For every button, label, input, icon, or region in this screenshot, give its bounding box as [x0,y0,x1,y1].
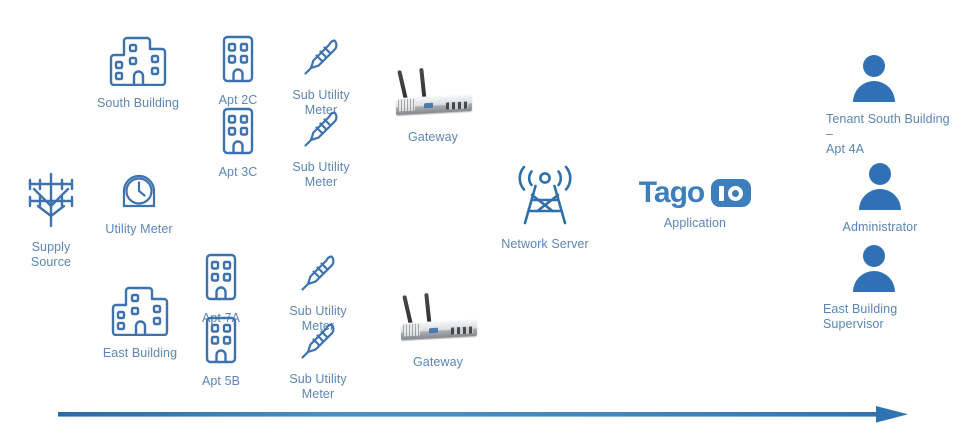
sub-meter-icon [298,252,338,299]
apartment-icon [219,33,257,88]
node-label: Sub Utility Meter [289,372,346,402]
node-label: Administrator [843,220,918,235]
node-label: Gateway [408,130,458,145]
node-south-building[interactable]: South Building [86,32,190,111]
radio-tower-icon [512,165,578,232]
user-avatar-icon [849,52,899,107]
utility-pole-icon [20,168,82,235]
apartment-icon [202,251,240,306]
badge-letter-i [719,186,724,201]
meter-gauge-icon [118,170,160,217]
tago-io-logo: Tago [639,178,751,208]
node-label: East Building Supervisor [823,302,897,332]
node-label: Utility Meter [105,222,172,237]
user-avatar-icon [855,160,905,215]
diagram-canvas: Supply Source Utility Meter [0,0,960,440]
node-network-server[interactable]: Network Server [495,165,595,252]
router-device-icon [390,68,476,120]
node-supply-source[interactable]: Supply Source [10,168,92,270]
io-badge [711,179,751,207]
node-sub-meter-2[interactable]: Sub Utility Meter [287,108,355,190]
node-apt-3c[interactable]: Apt 3C [208,105,268,180]
badge-letter-o [728,186,743,201]
apartment-icon [219,105,257,160]
node-sub-meter-4[interactable]: Sub Utility Meter [284,320,352,402]
node-administrator[interactable]: Administrator [820,160,940,235]
node-label: East Building [103,346,177,361]
building-icon [107,32,169,91]
node-tenant[interactable]: Tenant South Building – Apt 4A [826,52,950,157]
node-apt-5b[interactable]: Apt 5B [191,314,251,389]
sub-meter-icon [301,36,341,83]
node-apt-2c[interactable]: Apt 2C [208,33,268,108]
apartment-icon [202,314,240,369]
node-label: Application [664,216,726,231]
node-label: Network Server [501,237,589,252]
node-label: Sub Utility Meter [292,160,349,190]
building-icon [109,282,171,341]
tago-wordmark: Tago [639,178,704,208]
node-east-building[interactable]: East Building [88,282,192,361]
node-label: Apt 3C [219,165,258,180]
node-gateway-top[interactable]: Gateway [389,68,477,145]
node-application[interactable]: Tago Application [625,178,765,231]
node-label: Supply Source [31,240,71,270]
node-label: Apt 5B [202,374,240,389]
node-label: South Building [97,96,179,111]
flow-direction-arrow [58,404,908,426]
node-sub-meter-1[interactable]: Sub Utility Meter [287,36,355,118]
node-supervisor[interactable]: East Building Supervisor [823,242,943,332]
node-gateway-bottom[interactable]: Gateway [394,293,482,370]
router-device-icon [395,293,481,345]
sub-meter-icon [298,320,338,367]
node-label: Tenant South Building – Apt 4A [826,112,950,157]
node-label: Gateway [413,355,463,370]
user-avatar-icon [849,242,899,297]
sub-meter-icon [301,108,341,155]
node-utility-meter[interactable]: Utility Meter [100,170,178,237]
